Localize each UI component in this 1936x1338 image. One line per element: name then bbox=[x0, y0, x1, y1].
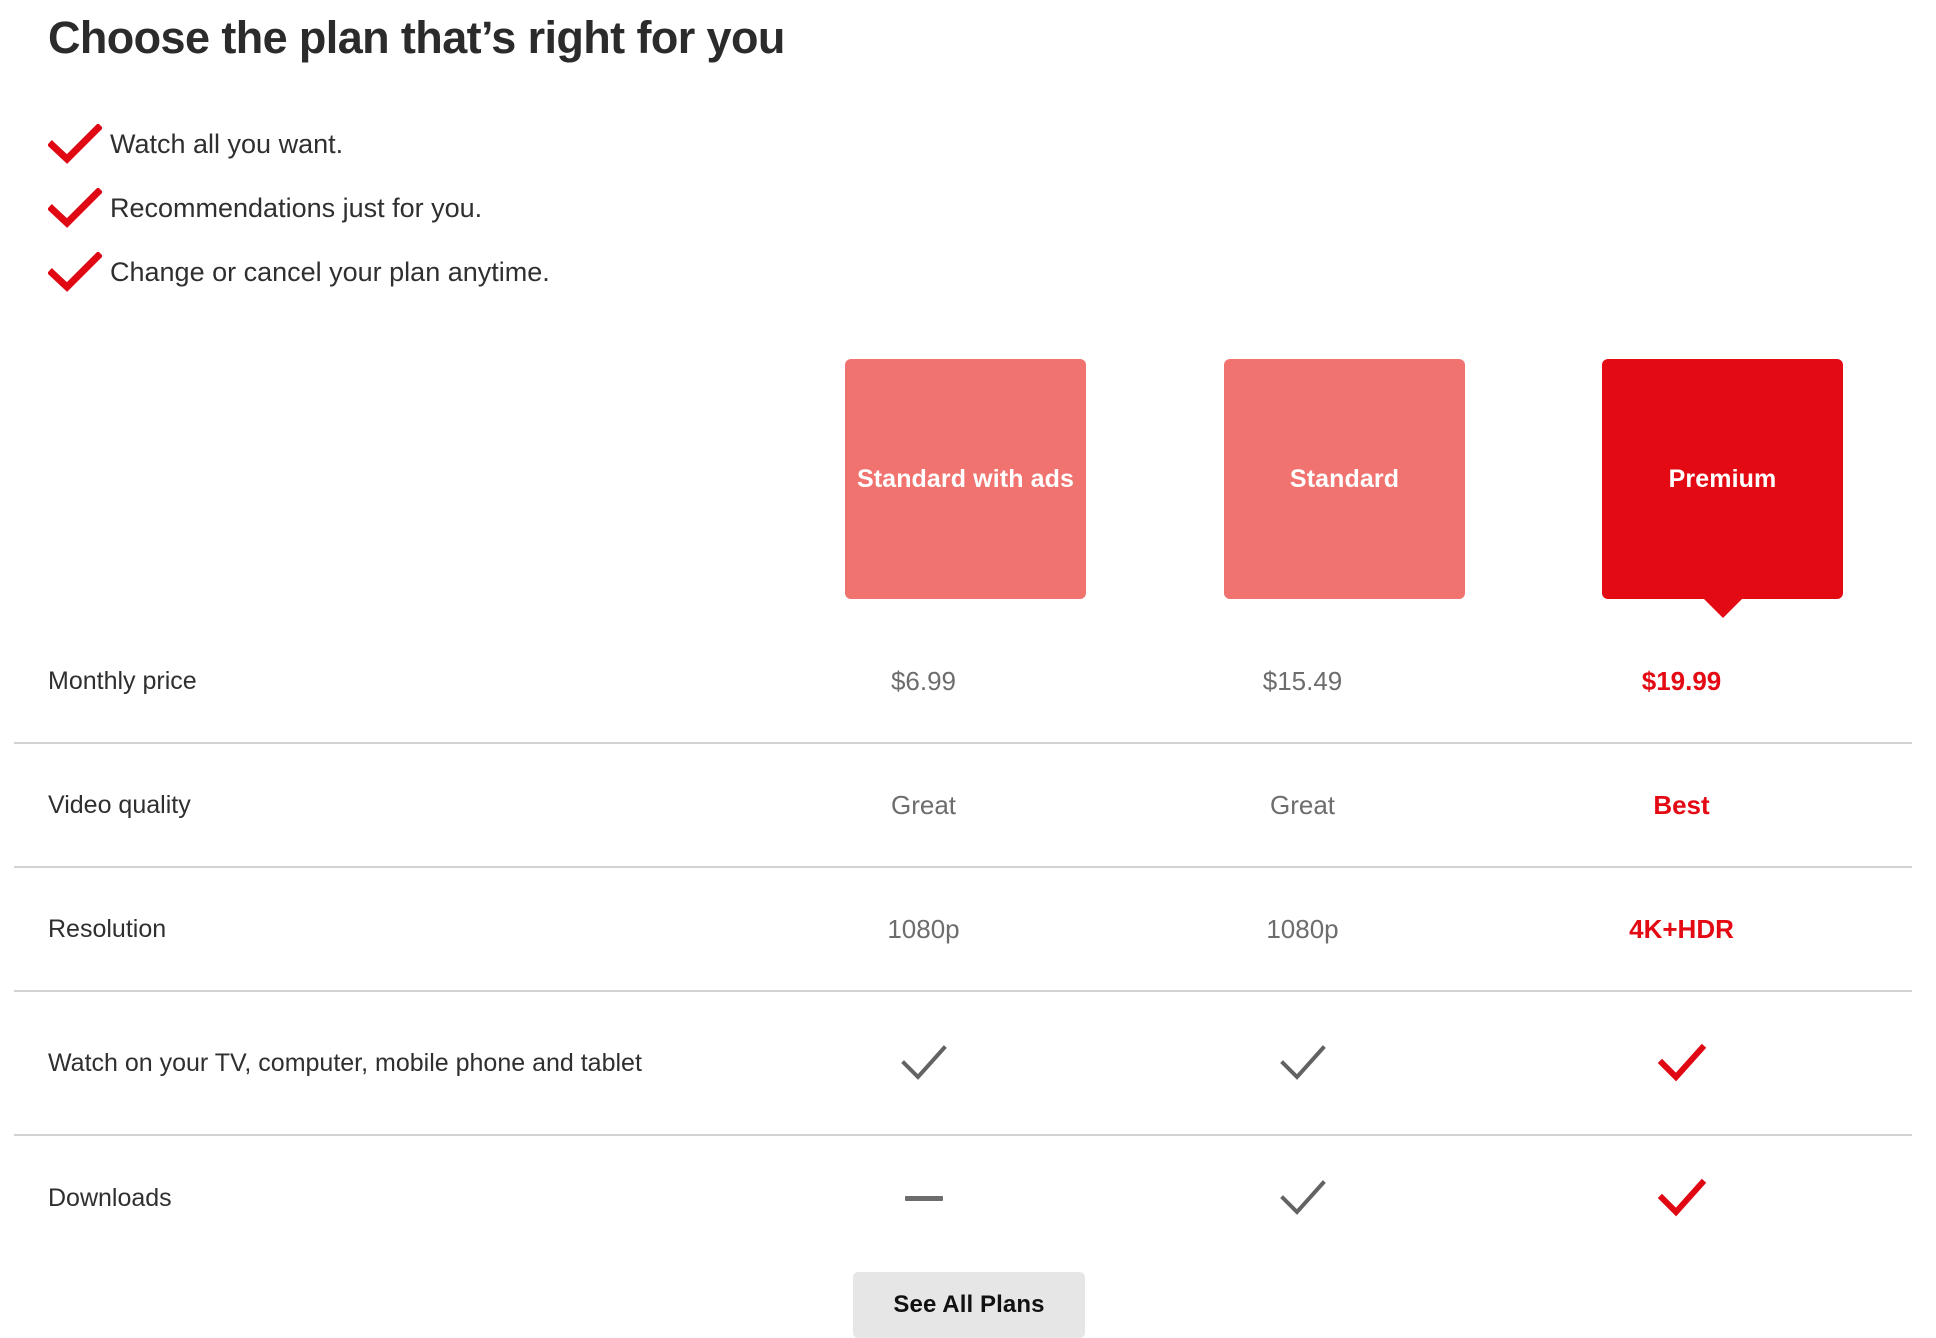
benefit-label: Watch all you want. bbox=[110, 127, 343, 161]
plan-card-standard[interactable]: Standard bbox=[1224, 359, 1465, 599]
cell-premium bbox=[1492, 1178, 1871, 1218]
table-row: Monthly price $6.99 $15.49 $19.99 bbox=[14, 620, 1912, 744]
table-row: Resolution 1080p 1080p 4K+HDR bbox=[14, 868, 1912, 992]
check-icon bbox=[48, 188, 110, 228]
cell-premium: Best bbox=[1492, 788, 1871, 822]
check-icon bbox=[1278, 1178, 1328, 1218]
cell-standard bbox=[1113, 1178, 1492, 1218]
table-row: Video quality Great Great Best bbox=[14, 744, 1912, 868]
plan-comparison-table: Monthly price $6.99 $15.49 $19.99 Video … bbox=[14, 620, 1912, 1260]
page-title: Choose the plan that’s right for you bbox=[48, 8, 785, 68]
table-row: Watch on your TV, computer, mobile phone… bbox=[14, 992, 1912, 1136]
check-icon bbox=[1657, 1178, 1707, 1218]
benefits-list: Watch all you want. Recommendations just… bbox=[48, 112, 948, 304]
feature-label: Monthly price bbox=[14, 662, 734, 700]
selected-plan-pointer-icon bbox=[1702, 597, 1744, 618]
benefit-item: Change or cancel your plan anytime. bbox=[48, 240, 948, 304]
see-all-plans-button[interactable]: See All Plans bbox=[853, 1272, 1085, 1338]
benefit-item: Watch all you want. bbox=[48, 112, 948, 176]
check-icon bbox=[48, 124, 110, 164]
feature-label: Downloads bbox=[14, 1179, 734, 1217]
plan-card-label: Standard bbox=[1280, 463, 1409, 496]
cell-standard-with-ads: 1080p bbox=[734, 912, 1113, 946]
plan-card-standard-with-ads[interactable]: Standard with ads bbox=[845, 359, 1086, 599]
feature-label: Watch on your TV, computer, mobile phone… bbox=[14, 1044, 734, 1082]
cell-standard-with-ads: $6.99 bbox=[734, 664, 1113, 698]
plan-card-label: Standard with ads bbox=[847, 463, 1084, 496]
benefit-label: Recommendations just for you. bbox=[110, 191, 482, 225]
table-row: Downloads bbox=[14, 1136, 1912, 1260]
cell-standard: $15.49 bbox=[1113, 664, 1492, 698]
check-icon bbox=[1657, 1043, 1707, 1083]
cell-premium: 4K+HDR bbox=[1492, 912, 1871, 946]
check-icon bbox=[1278, 1043, 1328, 1083]
cell-standard bbox=[1113, 1043, 1492, 1083]
dash-icon bbox=[905, 1196, 943, 1201]
cell-premium: $19.99 bbox=[1492, 664, 1871, 698]
plan-card-label: Premium bbox=[1659, 463, 1787, 496]
cell-standard-with-ads bbox=[734, 1043, 1113, 1083]
benefit-item: Recommendations just for you. bbox=[48, 176, 948, 240]
feature-label: Video quality bbox=[14, 786, 734, 824]
cell-standard-with-ads: Great bbox=[734, 788, 1113, 822]
cell-standard: 1080p bbox=[1113, 912, 1492, 946]
check-icon bbox=[48, 252, 110, 292]
plan-card-premium[interactable]: Premium bbox=[1602, 359, 1843, 599]
cell-standard-with-ads bbox=[734, 1196, 1113, 1201]
feature-label: Resolution bbox=[14, 910, 734, 948]
check-icon bbox=[899, 1043, 949, 1083]
plan-comparison-page: Choose the plan that’s right for you Wat… bbox=[0, 0, 1936, 1338]
benefit-label: Change or cancel your plan anytime. bbox=[110, 255, 550, 289]
cell-premium bbox=[1492, 1043, 1871, 1083]
cell-standard: Great bbox=[1113, 788, 1492, 822]
